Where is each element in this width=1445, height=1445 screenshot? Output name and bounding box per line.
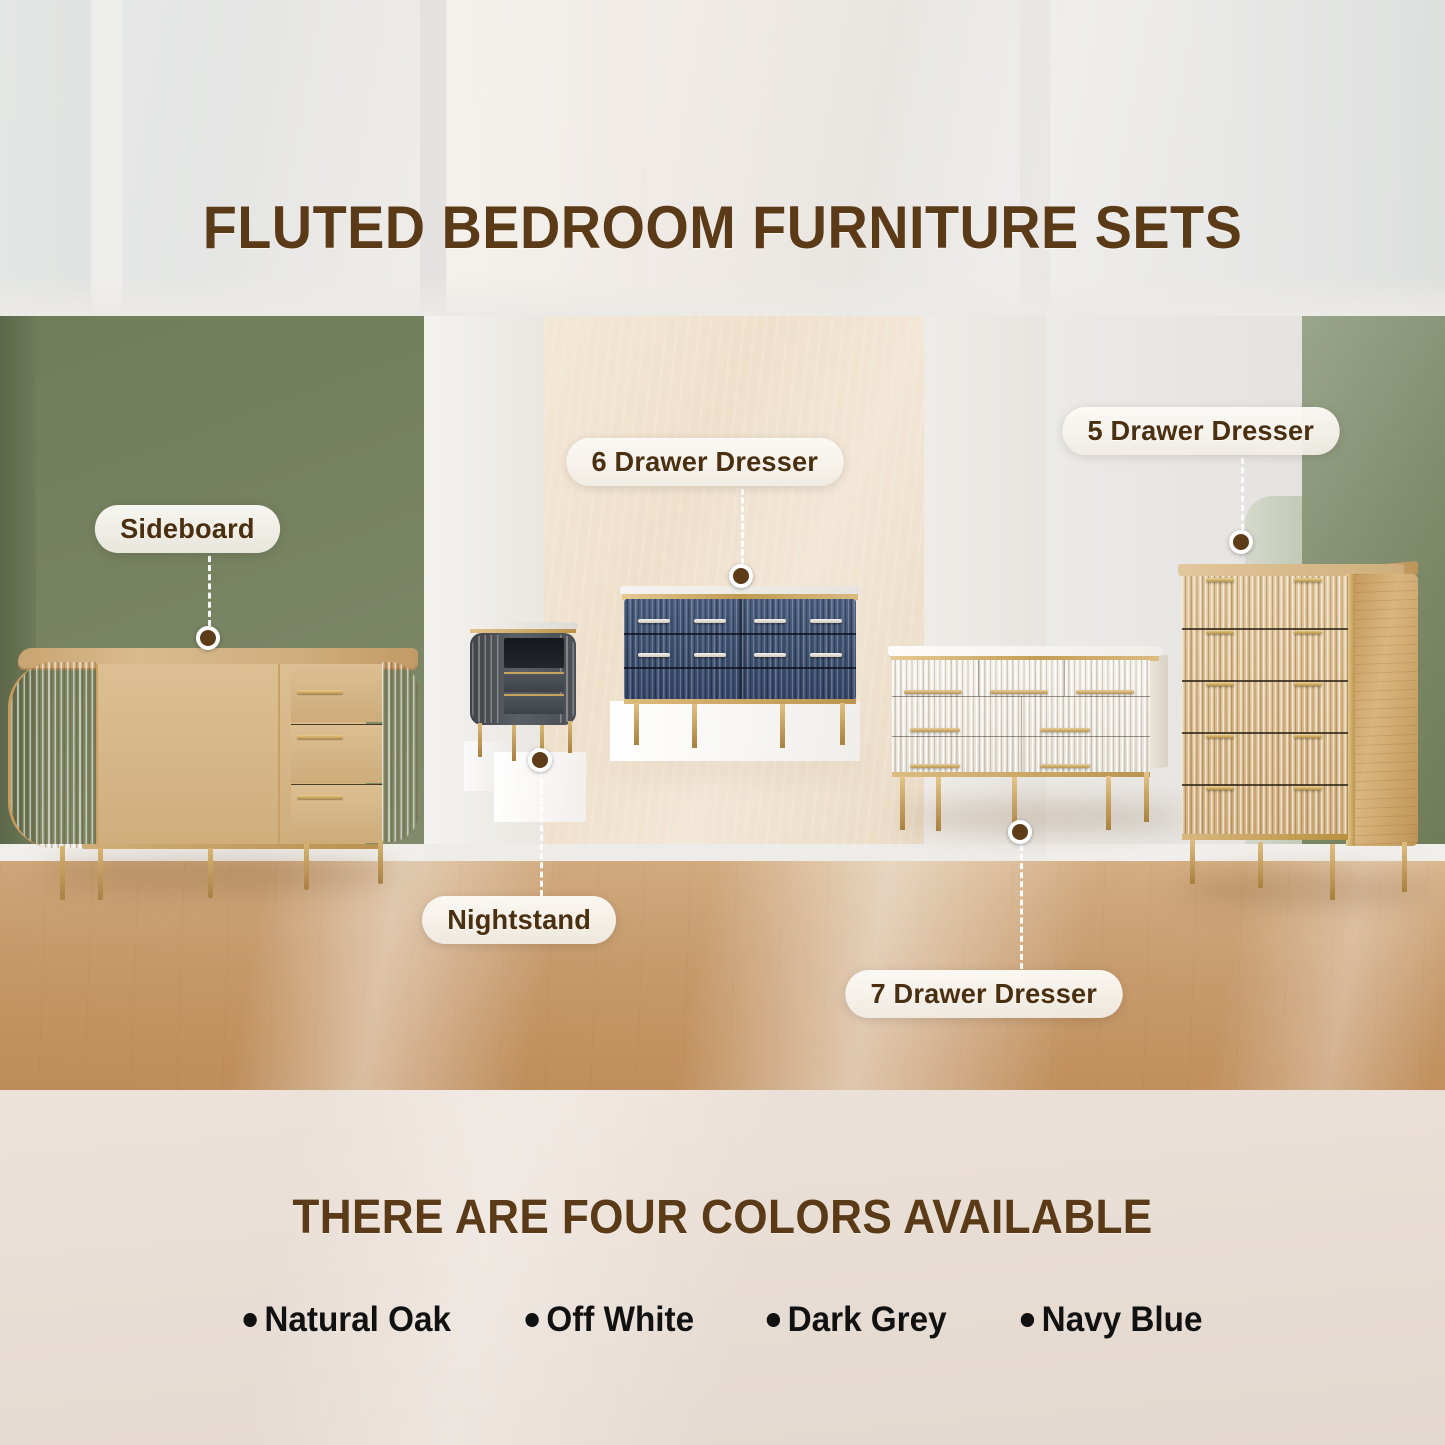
product-infographic: FLUTED BEDROOM FURNITURE SETS [0, 0, 1445, 1445]
color-option[interactable]: Dark Grey [767, 1300, 947, 1340]
leader-dot-5-drawer-dresser [1229, 530, 1253, 554]
leader-line-sideboard [208, 556, 211, 626]
dresser5-wood-grain [1354, 574, 1418, 846]
leader-line-nightstand [540, 770, 543, 896]
header-backdrop-stripe [1020, 0, 1050, 316]
callout-nightstand[interactable]: Nightstand [422, 896, 616, 944]
color-option[interactable]: Off White [525, 1300, 694, 1340]
dresser5-base-rail [1182, 834, 1348, 840]
sideboard-left-curved-door [8, 662, 99, 848]
header-fade [0, 276, 1445, 316]
leader-line-6-drawer-dresser [741, 489, 744, 564]
dresser7-side-panel [1150, 655, 1168, 769]
nightstand-drawer [504, 672, 564, 692]
color-option-label: Off White [546, 1300, 694, 1340]
bullet-dot-icon [525, 1313, 538, 1327]
callout-label: 5 Drawer Dresser [1088, 415, 1315, 447]
dresser6-base-trim [624, 699, 856, 704]
dresser5-drawer-front [1182, 576, 1348, 836]
header-backdrop-stripe [92, 0, 122, 316]
header-backdrop-stripe [420, 0, 446, 316]
bullet-dot-icon [1020, 1313, 1033, 1327]
callout-label: Sideboard [120, 513, 255, 545]
footer-band [0, 1090, 1445, 1445]
page-title: FLUTED BEDROOM FURNITURE SETS [51, 193, 1395, 262]
color-option-label: Natural Oak [265, 1300, 452, 1340]
leader-line-7-drawer-dresser [1020, 845, 1023, 969]
header-band [0, 0, 1445, 316]
bullet-dot-icon [767, 1313, 780, 1327]
sideboard-base-rail [82, 844, 382, 849]
leader-dot-nightstand [528, 748, 552, 772]
furniture-6-drawer-dresser [620, 586, 860, 716]
leader-dot-sideboard [196, 626, 220, 650]
sideboard-drawer [291, 664, 383, 722]
callout-sideboard[interactable]: Sideboard [95, 505, 280, 553]
dresser7-body [892, 660, 1150, 773]
footer-sheen [0, 1090, 1445, 1445]
color-option[interactable]: Navy Blue [1020, 1300, 1202, 1340]
leader-dot-6-drawer-dresser [729, 564, 753, 588]
nightstand-fluted-side [472, 635, 502, 723]
callout-7-drawer-dresser[interactable]: 7 Drawer Dresser [845, 970, 1122, 1018]
header-backdrop-stripe [0, 0, 90, 316]
sideboard-drawer [291, 724, 383, 783]
furniture-nightstand [468, 622, 578, 757]
sideboard-body [8, 662, 418, 848]
furniture-5-drawer-dresser [1178, 564, 1418, 884]
dresser5-fluted-texture [1182, 576, 1348, 836]
dresser6-body [624, 599, 856, 700]
bullet-dot-icon [244, 1313, 257, 1327]
callout-6-drawer-dresser[interactable]: 6 Drawer Dresser [566, 438, 843, 486]
color-option[interactable]: Natural Oak [244, 1300, 452, 1340]
furniture-sideboard [8, 648, 420, 873]
color-option-label: Dark Grey [788, 1300, 947, 1340]
nightstand-open-shelf [504, 638, 564, 668]
color-options-list: Natural Oak Off White Dark Grey Navy Blu… [0, 1300, 1445, 1340]
color-option-label: Navy Blue [1041, 1300, 1202, 1340]
sideboard-drawer-stack [291, 664, 383, 844]
header-backdrop-stripe [1200, 0, 1445, 316]
leader-dot-7-drawer-dresser [1008, 820, 1032, 844]
dresser7-top [888, 646, 1162, 656]
furniture-7-drawer-dresser [888, 646, 1168, 806]
callout-label: 7 Drawer Dresser [871, 978, 1098, 1010]
callout-5-drawer-dresser[interactable]: 5 Drawer Dresser [1062, 407, 1339, 455]
sideboard-door-1 [96, 664, 278, 844]
sideboard-right-curved-end [382, 662, 418, 842]
sideboard-drawer [291, 784, 383, 843]
header-backdrop-stripe [447, 0, 647, 316]
callout-label: 6 Drawer Dresser [592, 446, 819, 478]
nightstand-drawer [504, 694, 564, 714]
callout-label: Nightstand [447, 904, 591, 936]
dresser5-side-panel [1354, 574, 1418, 846]
dresser7-base-trim [892, 772, 1150, 777]
leader-line-5-drawer-dresser [1241, 458, 1244, 530]
footer-title: THERE ARE FOUR COLORS AVAILABLE [58, 1190, 1387, 1245]
